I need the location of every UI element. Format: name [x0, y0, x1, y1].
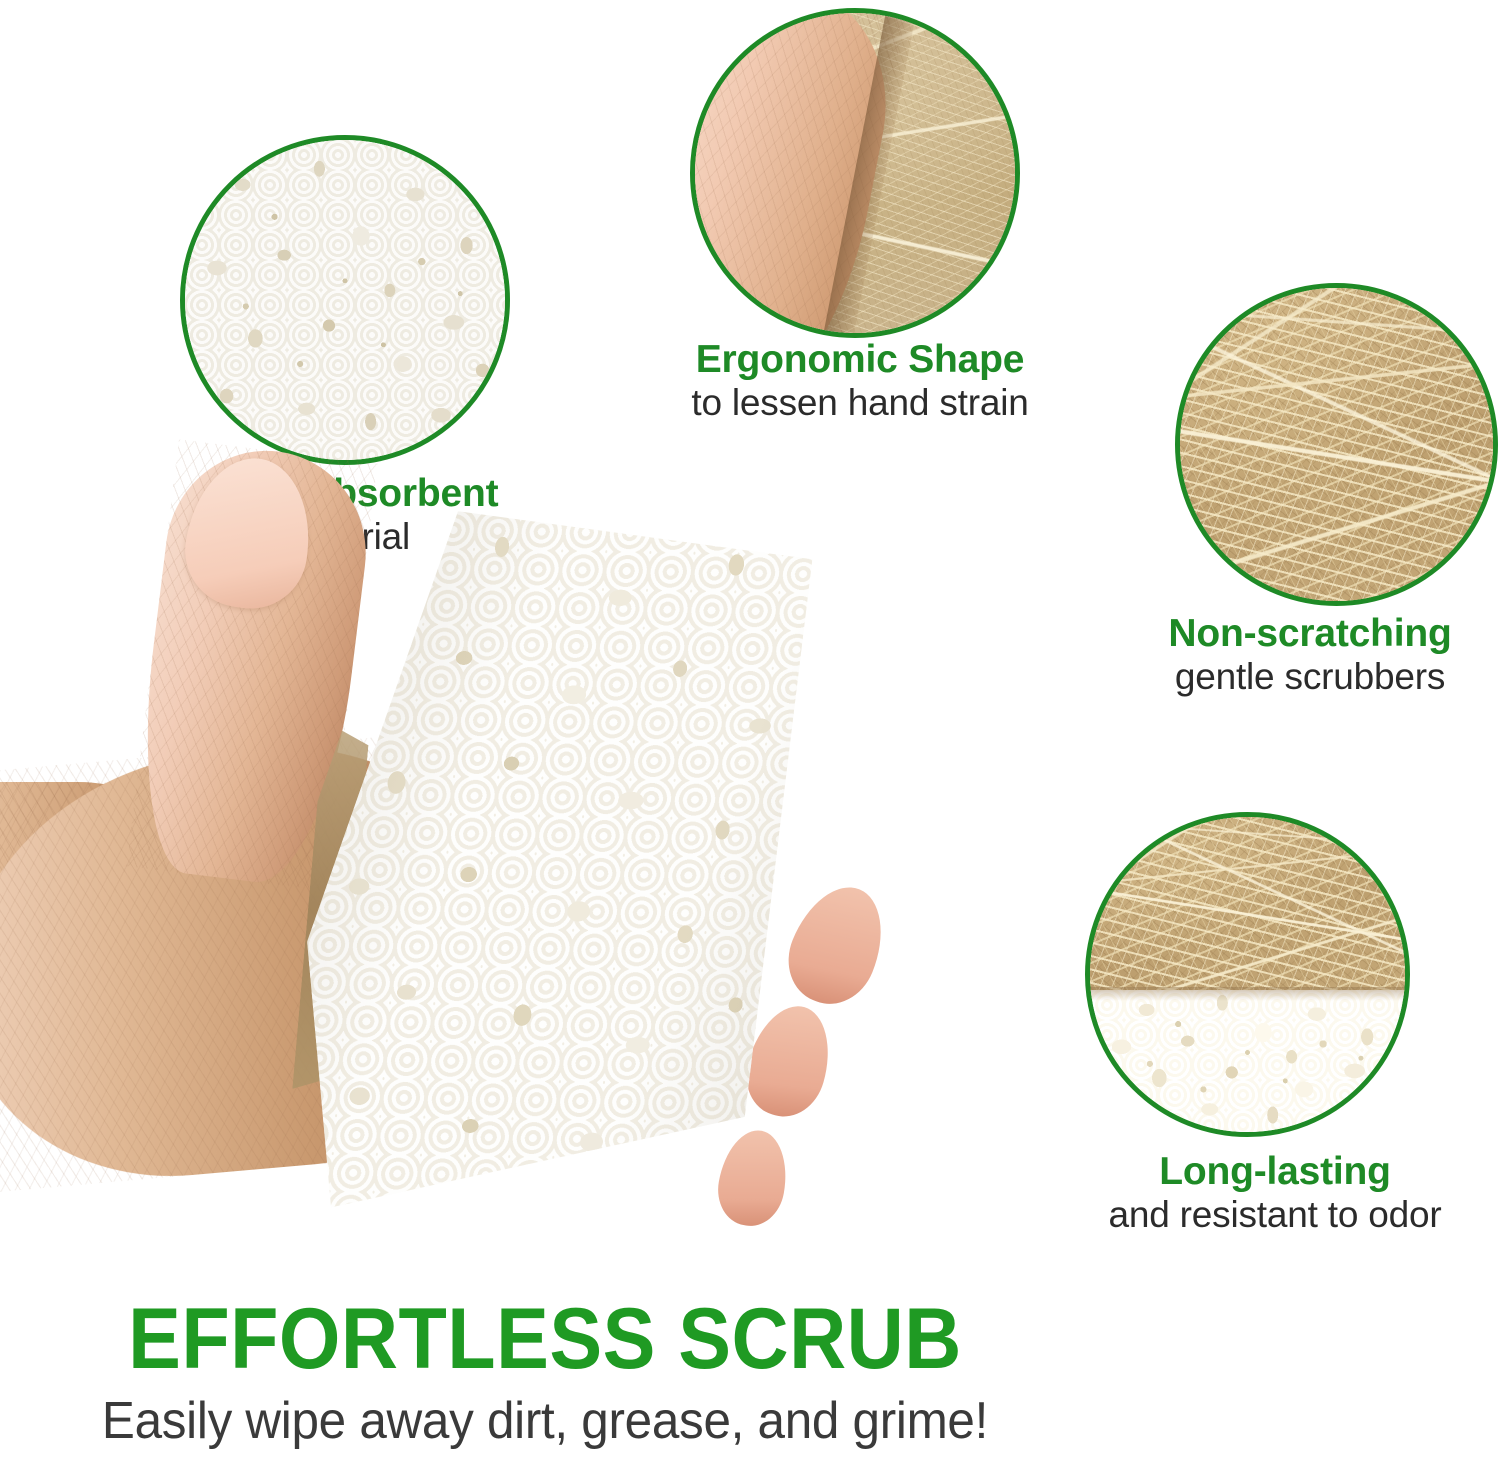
feature-label-non-scratching: Non-scratching gentle scrubbers — [1120, 612, 1500, 699]
fingertip-image — [712, 1125, 794, 1231]
sponge-shading-overlay — [284, 509, 816, 1215]
feature-circle-super-absorbent — [180, 135, 510, 465]
feature-circle-non-scratching — [1175, 283, 1498, 606]
feature-circle-ergonomic-shape — [690, 8, 1020, 338]
sponge-block-image — [284, 509, 816, 1215]
sponge-white-texture-image — [185, 140, 505, 460]
feature-headline: Ergonomic Shape — [640, 338, 1080, 382]
feature-subline: gentle scrubbers — [1120, 656, 1500, 698]
fiber-tan-texture-image — [1180, 288, 1493, 601]
page-subtitle: Easily wipe away dirt, grease, and grime… — [27, 1394, 1063, 1449]
feature-circle-long-lasting — [1085, 812, 1410, 1137]
loofah-layer-image — [1090, 817, 1405, 997]
page-title: EFFORTLESS SCRUB — [44, 1296, 1047, 1382]
feature-subline: to lessen hand strain — [640, 382, 1080, 424]
feature-headline: Non-scratching — [1120, 612, 1500, 656]
footer-headline-block: EFFORTLESS SCRUB Easily wipe away dirt, … — [0, 1296, 1090, 1449]
layer-seam — [1090, 987, 1405, 1001]
feature-label-ergonomic-shape: Ergonomic Shape to lessen hand strain — [640, 338, 1080, 425]
feature-subline: and resistant to odor — [1050, 1194, 1500, 1236]
sponge-layer-image — [1090, 990, 1405, 1132]
hero-hand-holding-sponge-image — [0, 430, 1080, 1220]
feature-headline: Long-lasting — [1050, 1150, 1500, 1194]
feature-label-long-lasting: Long-lasting and resistant to odor — [1050, 1150, 1500, 1237]
fingertip-image — [775, 873, 900, 1016]
